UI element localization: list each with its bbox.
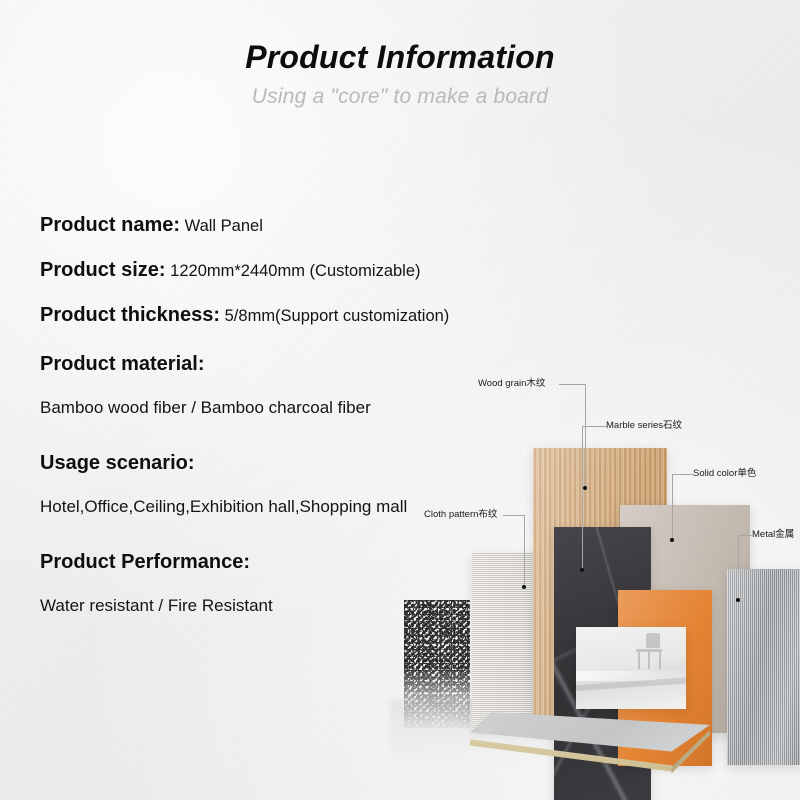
callout-solid-color: Solid color单色: [693, 468, 756, 480]
leader-dot-cloth: [522, 585, 526, 589]
flat-panel: [470, 712, 710, 780]
product-sample-group: Wood grain木纹 Marble series石纹 Solid color…: [0, 0, 800, 800]
leader-line-solid-horizontal: [672, 474, 693, 475]
callout-label-marble-series: Marble series石纹: [606, 420, 682, 432]
callout-label-metal: Metal金属: [752, 529, 794, 541]
flat-panel-face: [470, 712, 710, 758]
leader-dot-marble: [580, 568, 584, 572]
leader-dot-metal: [736, 598, 740, 602]
gloss-panel: [576, 627, 686, 709]
leader-line-metal-vertical: [738, 535, 739, 600]
callout-metal: Metal金属: [752, 529, 794, 541]
leader-line-solid-vertical: [672, 474, 673, 540]
leader-line-wood-grain-vertical: [585, 384, 586, 488]
leader-line-metal-horizontal: [738, 535, 752, 536]
leader-line-cloth-vertical: [524, 515, 525, 587]
callout-label-cloth-pattern: Cloth pattern布纹: [424, 509, 497, 521]
leader-line-marble-horizontal: [582, 426, 606, 427]
speckle-panel: [404, 600, 470, 728]
leader-line-wood-grain-horizontal: [559, 384, 585, 385]
callout-label-wood-grain: Wood grain木纹: [478, 378, 545, 390]
leader-line-marble-vertical: [582, 426, 583, 570]
leader-line-cloth-horizontal: [503, 515, 524, 516]
chair-reflection-icon: [632, 633, 670, 671]
leader-dot-wood-grain: [583, 486, 587, 490]
product-information-page: Product Information Using a "core" to ma…: [0, 0, 800, 800]
callout-cloth-pattern: Cloth pattern布纹: [424, 509, 497, 521]
callout-wood-grain: Wood grain木纹: [478, 378, 545, 390]
leader-dot-solid: [670, 538, 674, 542]
callout-label-solid-color: Solid color单色: [693, 468, 756, 480]
callout-marble-series: Marble series石纹: [606, 420, 682, 432]
